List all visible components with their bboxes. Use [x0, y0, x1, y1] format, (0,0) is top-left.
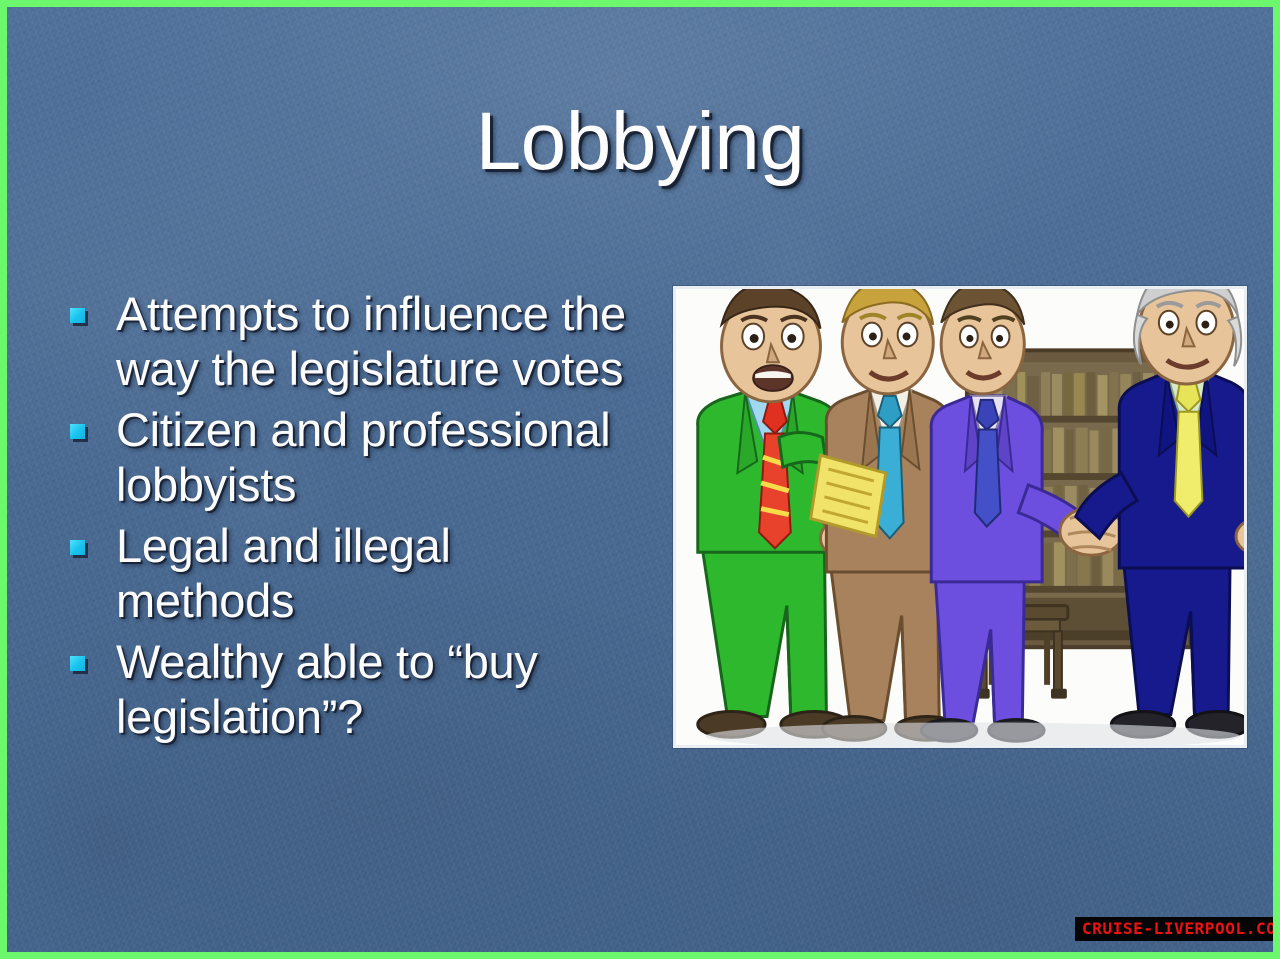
- list-item: Attempts to influence the way the legisl…: [70, 286, 630, 396]
- presentation-slide: Lobbying Attempts to influence the way t…: [0, 0, 1280, 959]
- list-item-label: Citizen and professional lobbyists: [116, 402, 630, 512]
- cyan-square-bullet-icon: [70, 424, 85, 439]
- page-title: Lobbying: [0, 96, 1280, 188]
- list-item: Wealthy able to “buy legislation”?: [70, 634, 630, 744]
- clipart-illustration: [676, 289, 1244, 746]
- cyan-square-bullet-icon: [70, 656, 85, 671]
- lobbyists-handshake-clipart: [673, 286, 1247, 748]
- list-item-label: Legal and illegal methods: [116, 518, 630, 628]
- cyan-square-bullet-icon: [70, 308, 85, 323]
- bullet-list: Attempts to influence the way the legisl…: [70, 286, 630, 750]
- watermark-cruise-liverpool: CRUISE-LIVERPOOL.COM: [1075, 917, 1280, 941]
- list-item-label: Attempts to influence the way the legisl…: [116, 286, 630, 396]
- cyan-square-bullet-icon: [70, 540, 85, 555]
- list-item: Legal and illegal methods: [70, 518, 630, 628]
- list-item-label: Wealthy able to “buy legislation”?: [116, 634, 630, 744]
- list-item: Citizen and professional lobbyists: [70, 402, 630, 512]
